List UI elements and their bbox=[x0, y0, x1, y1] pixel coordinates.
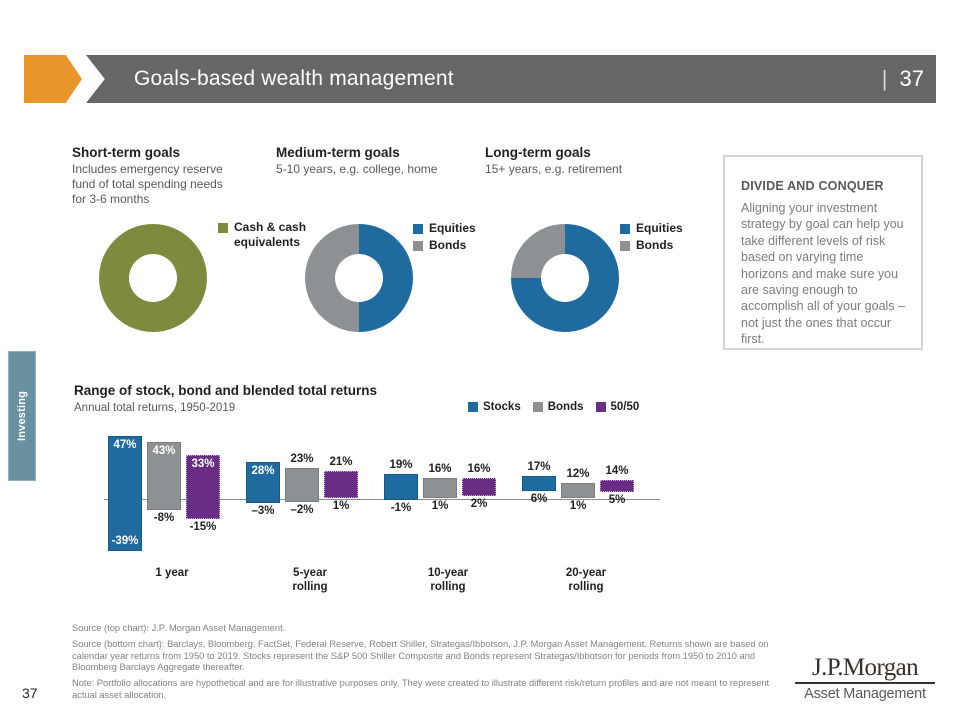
header-divider: | bbox=[882, 66, 888, 92]
bar-stocks-10-year-rolling bbox=[384, 474, 418, 501]
header-page-number: 37 bbox=[900, 66, 924, 92]
goal-subtitle: 15+ years, e.g. retirement bbox=[485, 162, 695, 177]
legend-swatch-equities bbox=[620, 224, 630, 234]
header-arrow-accent bbox=[24, 55, 82, 103]
legend-item: Bonds bbox=[620, 238, 683, 253]
page-title: Goals-based wealth management bbox=[134, 67, 454, 91]
x-axis-label-line1: 5-year bbox=[250, 566, 370, 580]
bar-min-label: –3% bbox=[246, 505, 280, 517]
x-axis-label-10-year: 10-year rolling bbox=[388, 566, 508, 594]
chart-legend: Stocks Bonds 50/50 bbox=[468, 401, 645, 413]
x-axis-label-line1: 20-year bbox=[526, 566, 646, 580]
legend-item: Bonds bbox=[413, 238, 476, 253]
callout-body: Aligning your investment strategy by goa… bbox=[741, 200, 905, 348]
legend-label: Equities bbox=[636, 221, 683, 236]
bar-blend-5-year-rolling bbox=[324, 471, 358, 498]
logo-rule bbox=[795, 682, 935, 684]
goal-subtitle: 5-10 years, e.g. college, home bbox=[276, 162, 476, 177]
bar-max-label: 12% bbox=[561, 468, 595, 480]
x-axis-label-line2: rolling bbox=[388, 580, 508, 594]
bar-min-label: 1% bbox=[561, 500, 595, 512]
legend-label-bonds: Bonds bbox=[548, 401, 584, 413]
bar-min-label: -39% bbox=[108, 535, 142, 547]
donut-ring-medium-term bbox=[305, 224, 413, 332]
header-page-indicator: | 37 bbox=[882, 66, 924, 92]
legend-label: Cash & cash equivalents bbox=[234, 220, 306, 250]
bar-min-label: 5% bbox=[600, 494, 634, 506]
legend-swatch-stocks bbox=[468, 402, 478, 412]
x-axis-label-line1: 1 year bbox=[112, 566, 232, 580]
donut-chart-short-term bbox=[99, 224, 207, 332]
bar-blend-20-year-rolling bbox=[600, 480, 634, 492]
donut-legend-long-term: Equities Bonds bbox=[620, 221, 683, 255]
legend-item-stocks: Stocks bbox=[468, 401, 521, 413]
legend-swatch-bonds bbox=[533, 402, 543, 412]
legend-swatch-equities bbox=[413, 224, 423, 234]
callout-box: DIVIDE AND CONQUER Aligning your investm… bbox=[723, 155, 923, 350]
goal-subtitle: Includes emergency reserve fund of total… bbox=[72, 162, 237, 207]
donut-ring-short-term bbox=[99, 224, 207, 332]
x-axis-label-20-year: 20-year rolling bbox=[526, 566, 646, 594]
bar-bonds-10-year-rolling bbox=[423, 478, 457, 498]
legend-swatch-cash bbox=[218, 223, 228, 233]
donut-chart-long-term bbox=[511, 224, 619, 332]
x-axis-label-5-year: 5-year rolling bbox=[250, 566, 370, 594]
bar-bonds-5-year-rolling bbox=[285, 468, 319, 501]
donut-legend-medium-term: Equities Bonds bbox=[413, 221, 476, 255]
donut-chart-medium-term bbox=[305, 224, 413, 332]
slide-page-number: 37 bbox=[22, 685, 38, 701]
goal-column-short-term: Short-term goals Includes emergency rese… bbox=[72, 145, 272, 207]
bar-min-label: –2% bbox=[285, 504, 319, 516]
bar-min-label: -15% bbox=[186, 521, 220, 533]
sidebar-item-label: Investing bbox=[16, 391, 28, 441]
bar-bonds-20-year-rolling bbox=[561, 483, 595, 498]
goal-column-long-term: Long-term goals 15+ years, e.g. retireme… bbox=[485, 145, 695, 177]
legend-item: Cash & cash equivalents bbox=[218, 220, 306, 250]
donut-legend-short-term: Cash & cash equivalents bbox=[218, 220, 306, 252]
bar-min-label: -1% bbox=[384, 502, 418, 514]
chart-title: Range of stock, bond and blended total r… bbox=[74, 383, 377, 398]
bar-max-label: 23% bbox=[285, 453, 319, 465]
x-axis-label-line2: rolling bbox=[250, 580, 370, 594]
bar-max-label: 28% bbox=[246, 465, 280, 477]
bar-max-label: 16% bbox=[462, 463, 496, 475]
bar-max-label: 14% bbox=[600, 465, 634, 477]
legend-item-bonds: Bonds bbox=[533, 401, 584, 413]
bar-max-label: 16% bbox=[423, 463, 457, 475]
x-axis-label-line2: rolling bbox=[526, 580, 646, 594]
x-axis-label-1-year: 1 year bbox=[112, 566, 232, 580]
bar-stocks-20-year-rolling bbox=[522, 476, 556, 491]
goal-title: Medium-term goals bbox=[276, 145, 476, 160]
sidebar-item-investing[interactable]: Investing bbox=[8, 351, 36, 481]
bar-min-label: 1% bbox=[423, 500, 457, 512]
goal-column-medium-term: Medium-term goals 5-10 years, e.g. colle… bbox=[276, 145, 476, 177]
slide-header: Goals-based wealth management | 37 bbox=[24, 55, 942, 103]
jpmorgan-logo: J.P.Morgan Asset Management bbox=[795, 655, 935, 702]
legend-label-blend: 50/50 bbox=[611, 401, 640, 413]
donut-ring-long-term bbox=[511, 224, 619, 332]
legend-item: Equities bbox=[620, 221, 683, 236]
bar-max-label: 21% bbox=[324, 456, 358, 468]
legend-item-blend: 50/50 bbox=[596, 401, 640, 413]
bar-min-label: -8% bbox=[147, 512, 181, 524]
bar-max-label: 17% bbox=[522, 461, 556, 473]
callout-title: DIVIDE AND CONQUER bbox=[741, 179, 905, 193]
legend-label: Bonds bbox=[429, 238, 466, 253]
bar-max-label: 47% bbox=[108, 439, 142, 451]
goal-title: Long-term goals bbox=[485, 145, 695, 160]
bar-max-label: 19% bbox=[384, 459, 418, 471]
legend-swatch-bonds bbox=[413, 241, 423, 251]
footnote-source-bottom: Source (bottom chart): Barclays, Bloombe… bbox=[72, 639, 772, 674]
range-bar-chart: 47%-39%43%-8%33%-15%28%–3%23%–2%21%1%19%… bbox=[100, 424, 660, 558]
legend-label: Bonds bbox=[636, 238, 673, 253]
bar-min-label: 1% bbox=[324, 500, 358, 512]
bar-min-label: 2% bbox=[462, 498, 496, 510]
goal-title: Short-term goals bbox=[72, 145, 272, 160]
footnote-source-top: Source (top chart): J.P. Morgan Asset Ma… bbox=[72, 623, 772, 635]
bar-stocks-1-year bbox=[108, 436, 142, 550]
legend-swatch-bonds bbox=[620, 241, 630, 251]
bar-blend-10-year-rolling bbox=[462, 478, 496, 497]
bar-max-label: 33% bbox=[186, 458, 220, 470]
legend-label-stocks: Stocks bbox=[483, 401, 521, 413]
legend-item: Equities bbox=[413, 221, 476, 236]
bar-min-label: 6% bbox=[522, 493, 556, 505]
footnote-note: Note: Portfolio allocations are hypothet… bbox=[72, 678, 772, 701]
bar-max-label: 43% bbox=[147, 445, 181, 457]
chart-subtitle: Annual total returns, 1950-2019 bbox=[74, 402, 235, 414]
logo-subtitle: Asset Management bbox=[795, 686, 935, 702]
x-axis-label-line1: 10-year bbox=[388, 566, 508, 580]
legend-swatch-blend bbox=[596, 402, 606, 412]
legend-label: Equities bbox=[429, 221, 476, 236]
logo-wordmark: J.P.Morgan bbox=[795, 655, 935, 681]
